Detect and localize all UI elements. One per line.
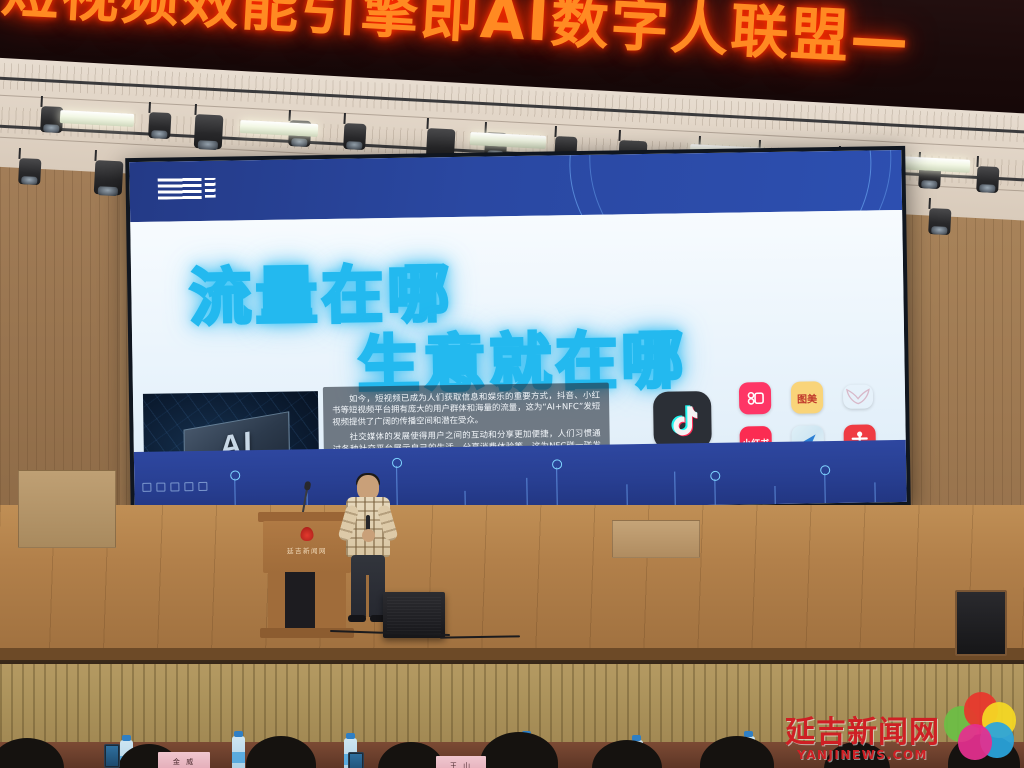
zerui-logo — [157, 175, 219, 202]
weibo-icon — [843, 384, 873, 408]
watermark: 延吉新闻网 YANJINEWS.COM — [785, 692, 1016, 762]
wall-speaker — [955, 590, 1007, 656]
wall-panel-left — [18, 470, 116, 548]
audience-phone — [104, 744, 120, 768]
watermark-cn: 延吉新闻网 — [785, 717, 940, 749]
slide-footer-band — [134, 440, 907, 514]
podium-face: 延吉新闻网 — [263, 521, 351, 573]
conference-hall-photo: 短视频效能引擎即AI数字人联盟— — [0, 0, 1024, 768]
presenter-shoe-left — [348, 615, 366, 622]
wall-panel-right — [612, 520, 700, 558]
name-card: 金 威 — [158, 752, 210, 768]
stage-floor — [0, 505, 1024, 665]
audience-phone — [348, 752, 364, 768]
presenter-hands — [362, 529, 375, 542]
watermark-flower-logo — [944, 692, 1016, 760]
slide-control-bar[interactable] — [142, 482, 207, 492]
podium-label: 延吉新闻网 — [263, 545, 351, 555]
watermark-en: YANJINEWS.COM — [797, 749, 928, 762]
logo-mark — [158, 177, 202, 200]
logo-bars — [205, 178, 216, 198]
kuaishou-icon — [739, 382, 771, 414]
flame-emblem-icon — [301, 527, 314, 541]
water-bottle — [232, 736, 245, 768]
slide-paragraph: 如今，短视频已成为人们获取信息和娱乐的重要方式，抖音、小红书等短视频平台拥有庞大… — [332, 390, 601, 428]
presentation-slide: 流量在哪 生意就在哪 AI 如今，短视频已成为人们获取信息和娱乐的重要方式，抖音… — [129, 150, 906, 514]
slide-content: 流量在哪 生意就在哪 AI 如今，短视频已成为人们获取信息和娱乐的重要方式，抖音… — [130, 210, 906, 452]
name-card: 王 山 — [436, 756, 486, 768]
douyin-icon — [653, 391, 712, 450]
meitu-icon: 图美 — [791, 381, 823, 413]
projection-screen: 流量在哪 生意就在哪 AI 如今，短视频已成为人们获取信息和娱乐的重要方式，抖音… — [125, 146, 911, 518]
podium-leg — [268, 572, 346, 630]
